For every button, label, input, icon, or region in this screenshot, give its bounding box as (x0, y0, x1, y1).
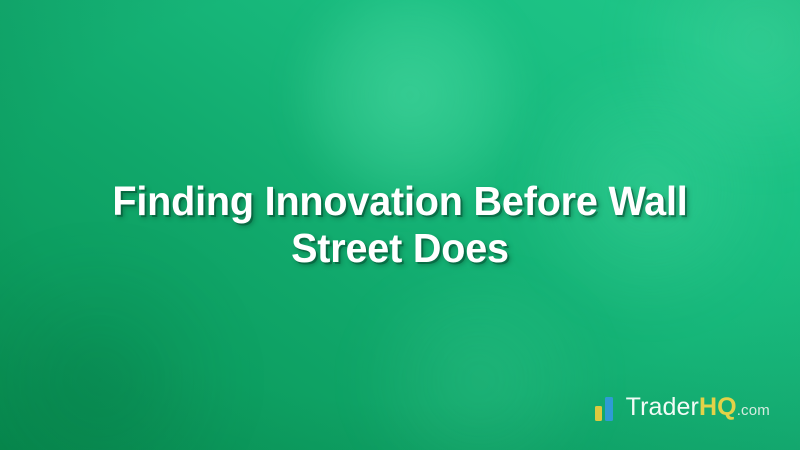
logo-wordmark: TraderHQ.com (626, 395, 770, 423)
headline-container: Finding Innovation Before Wall Street Do… (0, 178, 800, 272)
bar-chart-bar-blue (605, 397, 613, 421)
slide-headline: Finding Innovation Before Wall Street Do… (72, 178, 728, 272)
bar-chart-icon (595, 397, 613, 421)
traderhq-logo: TraderHQ.com (595, 395, 770, 423)
slide-canvas: Finding Innovation Before Wall Street Do… (0, 0, 800, 450)
bar-chart-bar-gold (595, 406, 602, 421)
logo-word-tld: .com (737, 402, 770, 419)
logo-word-hq: HQ (699, 393, 737, 421)
logo-word-trader: Trader (626, 393, 699, 421)
